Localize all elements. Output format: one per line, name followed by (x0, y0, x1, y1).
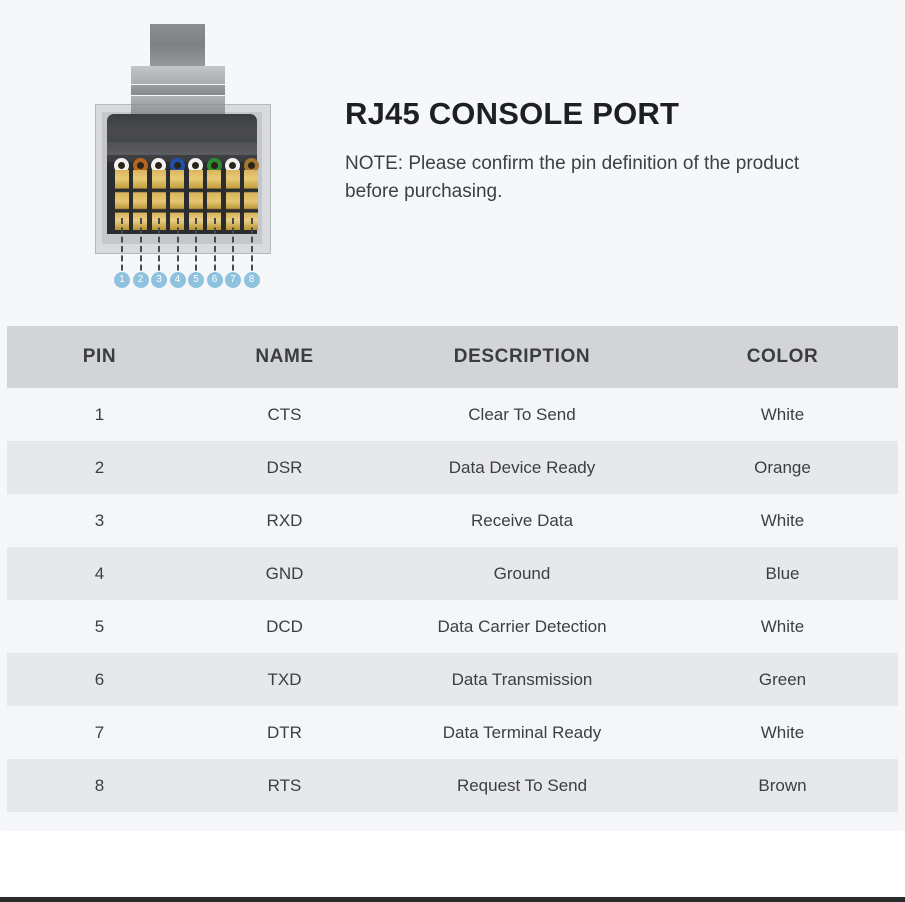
description-cell: Ground (377, 564, 667, 584)
color-cell: Brown (667, 776, 898, 796)
table-row: 7DTRData Terminal ReadyWhite (7, 706, 898, 759)
name-cell: DSR (192, 458, 377, 478)
description-cell: Data Carrier Detection (377, 617, 667, 637)
name-cell: RTS (192, 776, 377, 796)
purchase-note: NOTE: Please confirm the pin definition … (345, 150, 800, 205)
description-cell: Data Terminal Ready (377, 723, 667, 743)
hero-section: 12345678 RJ45 CONSOLE PORT NOTE: Please … (0, 0, 905, 326)
pin-cell: 6 (7, 670, 192, 690)
hero-text-block: RJ45 CONSOLE PORT NOTE: Please confirm t… (345, 96, 865, 205)
table-row: 6TXDData TransmissionGreen (7, 653, 898, 706)
pin-number-badge-6: 6 (207, 272, 223, 288)
table-row: 8RTSRequest To SendBrown (7, 759, 898, 812)
description-cell: Data Device Ready (377, 458, 667, 478)
table-row: 2DSRData Device ReadyOrange (7, 441, 898, 494)
page-title: RJ45 CONSOLE PORT (345, 96, 865, 132)
color-cell: White (667, 723, 898, 743)
pin-cell: 8 (7, 776, 192, 796)
description-cell: Clear To Send (377, 405, 667, 425)
pin-cell: 3 (7, 511, 192, 531)
leader-line-7 (232, 218, 234, 280)
name-cell: TXD (192, 670, 377, 690)
color-cell: Orange (667, 458, 898, 478)
pinout-table: PIN NAME DESCRIPTION COLOR 1CTSClear To … (0, 326, 905, 834)
pin-number-badge-7: 7 (225, 272, 241, 288)
table-row: 3RXDReceive DataWhite (7, 494, 898, 547)
column-header-description: DESCRIPTION (377, 346, 667, 368)
description-cell: Data Transmission (377, 670, 667, 690)
name-cell: GND (192, 564, 377, 584)
bottom-divider (0, 897, 905, 902)
name-cell: DTR (192, 723, 377, 743)
column-header-color: COLOR (667, 346, 898, 368)
pin-number-badge-3: 3 (151, 272, 167, 288)
color-cell: White (667, 617, 898, 637)
name-cell: CTS (192, 405, 377, 425)
product-spec-page: 12345678 RJ45 CONSOLE PORT NOTE: Please … (0, 0, 905, 902)
color-cell: White (667, 405, 898, 425)
pin-number-badge-5: 5 (188, 272, 204, 288)
rj45-connector-illustration: 12345678 (88, 22, 288, 302)
wire-dot-core (229, 162, 236, 169)
wire-dot-core (137, 162, 144, 169)
leader-line-8 (251, 218, 253, 280)
description-cell: Receive Data (377, 511, 667, 531)
leader-line-4 (177, 218, 179, 280)
table-body: 1CTSClear To SendWhite2DSRData Device Re… (0, 388, 905, 812)
leader-line-3 (158, 218, 160, 280)
description-cell: Request To Send (377, 776, 667, 796)
table-row: 4GNDGroundBlue (7, 547, 898, 600)
column-header-pin: PIN (7, 346, 192, 368)
name-cell: RXD (192, 511, 377, 531)
bottom-whitespace (0, 831, 905, 897)
table-header-row: PIN NAME DESCRIPTION COLOR (7, 326, 898, 388)
wire-dot-core (192, 162, 199, 169)
pin-cell: 5 (7, 617, 192, 637)
color-cell: Green (667, 670, 898, 690)
cable-collar-upper (131, 66, 225, 84)
wire-dot-core (155, 162, 162, 169)
pin-cell: 1 (7, 405, 192, 425)
cable-collar-middle (131, 85, 225, 95)
cable-stub (150, 24, 205, 66)
color-cell: Blue (667, 564, 898, 584)
leader-line-6 (214, 218, 216, 280)
table-row: 5DCDData Carrier DetectionWhite (7, 600, 898, 653)
column-header-name: NAME (192, 346, 377, 368)
wire-dot-core (248, 162, 255, 169)
wire-dot-core (118, 162, 125, 169)
wire-dot-core (174, 162, 181, 169)
leader-line-5 (195, 218, 197, 280)
pin-number-badge-8: 8 (244, 272, 260, 288)
name-cell: DCD (192, 617, 377, 637)
pin-cell: 4 (7, 564, 192, 584)
pin-number-badge-1: 1 (114, 272, 130, 288)
leader-line-2 (140, 218, 142, 280)
wire-dot-core (211, 162, 218, 169)
table-row: 1CTSClear To SendWhite (7, 388, 898, 441)
color-cell: White (667, 511, 898, 531)
pin-number-badge-2: 2 (133, 272, 149, 288)
leader-line-1 (121, 218, 123, 280)
pin-cell: 2 (7, 458, 192, 478)
pin-number-badge-4: 4 (170, 272, 186, 288)
pin-cell: 7 (7, 723, 192, 743)
